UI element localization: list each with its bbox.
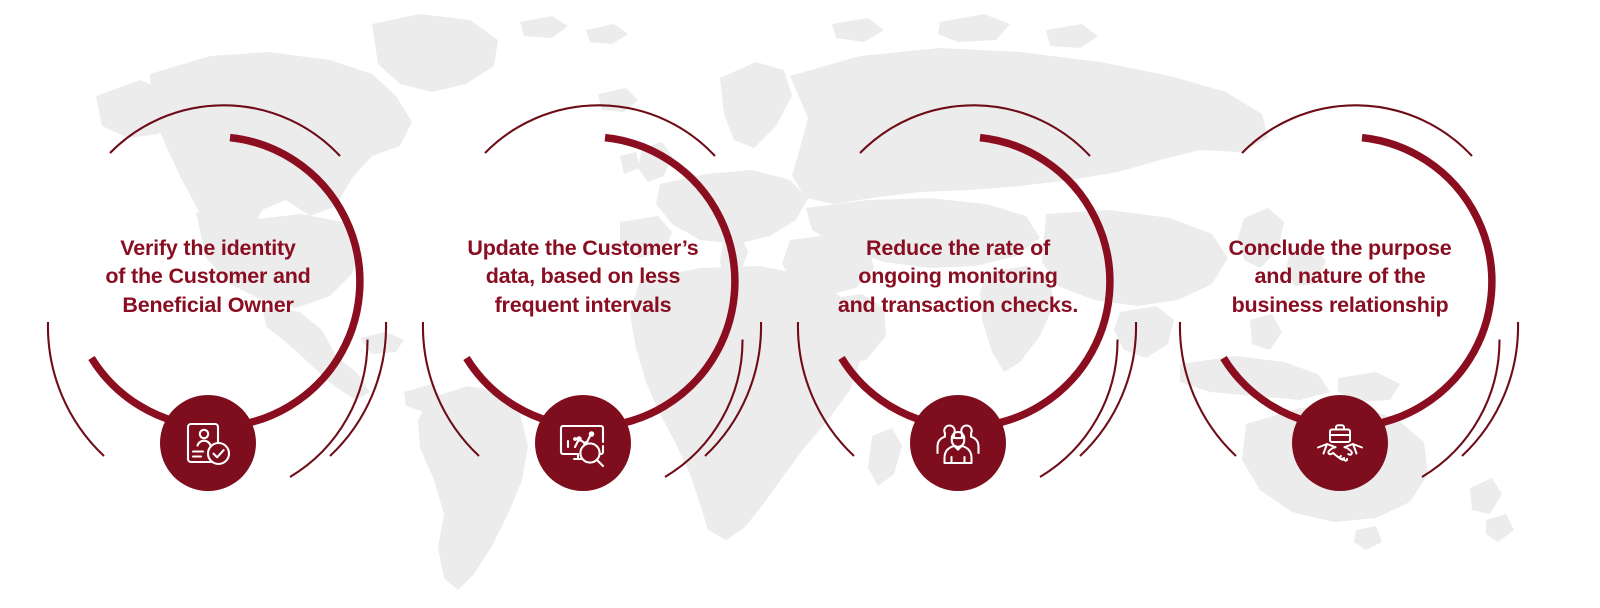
step-3-badge[interactable] [910,395,1006,491]
id-card-check-icon [181,416,235,470]
infographic-canvas: Verify the identity of the Customer and … [0,0,1600,608]
people-group-icon [931,416,985,470]
step-card-2[interactable]: Update the Customer’s data, based on les… [397,96,769,496]
chart-monitor-search-icon [556,416,610,470]
step-1-label: Verify the identity of the Customer and … [68,234,348,319]
step-1-badge[interactable] [160,395,256,491]
step-2-badge[interactable] [535,395,631,491]
step-card-4[interactable]: Conclude the purpose and nature of the b… [1154,96,1526,496]
step-3-label: Reduce the rate of ongoing monitoring an… [818,234,1098,319]
steps-row: Verify the identity of the Customer and … [0,0,1600,608]
step-4-label: Conclude the purpose and nature of the b… [1200,234,1480,319]
handshake-briefcase-icon [1313,416,1367,470]
step-card-1[interactable]: Verify the identity of the Customer and … [22,96,394,496]
step-4-badge[interactable] [1292,395,1388,491]
step-2-label: Update the Customer’s data, based on les… [443,234,723,319]
step-card-3[interactable]: Reduce the rate of ongoing monitoring an… [772,96,1144,496]
